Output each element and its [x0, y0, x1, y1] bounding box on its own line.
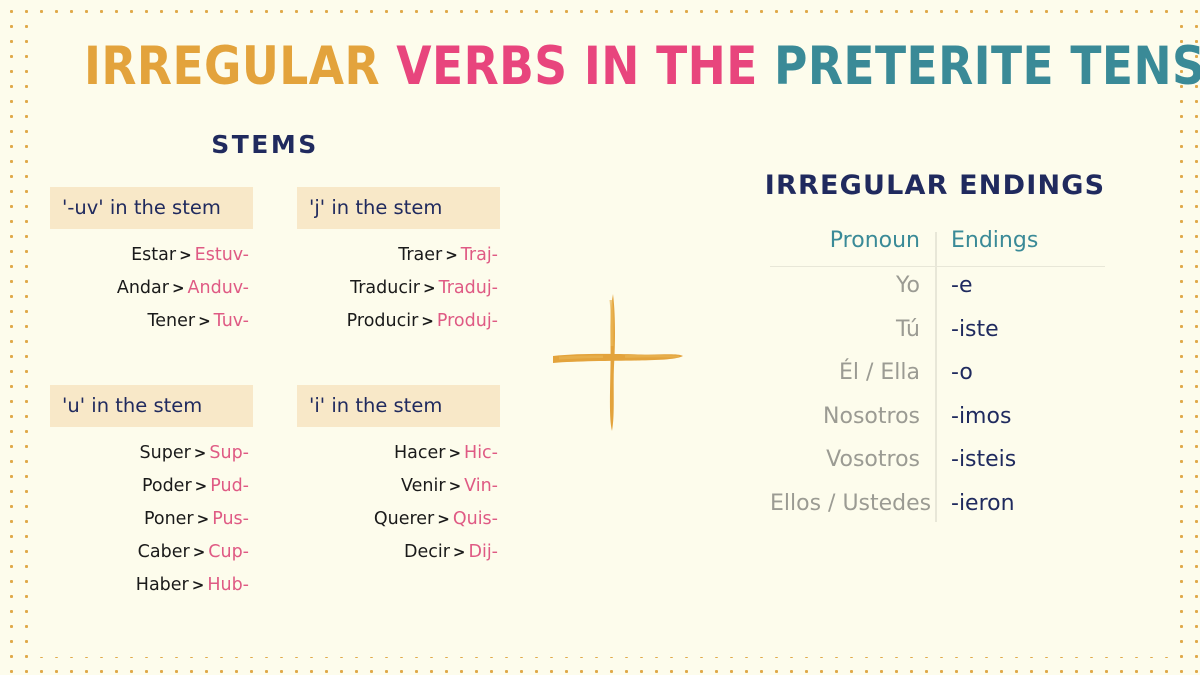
plus-sign-icon — [543, 290, 688, 435]
poster-stage: IRREGULAR VERBS IN THE PRETERITE TENSE S… — [0, 0, 1200, 675]
arrow-icon: > — [421, 312, 434, 330]
infinitive-verb: Decir — [404, 542, 450, 562]
endings-heading: IRREGULAR ENDINGS — [700, 170, 1170, 201]
arrow-icon: > — [198, 312, 211, 330]
preterite-stem: Produj- — [437, 311, 498, 331]
arrow-icon: > — [194, 444, 207, 462]
stem-row: Producir>Produj- — [297, 305, 500, 338]
ending-cell: -o — [936, 360, 1105, 385]
stem-row: Traer>Traj- — [297, 239, 500, 272]
stem-row: Poner>Pus- — [50, 503, 253, 536]
stem-group-i: 'i' in the stem Hacer>Hic- Venir>Vin- Qu… — [297, 385, 500, 569]
table-row: Yo -e — [770, 273, 1105, 317]
table-row: Vosotros -isteis — [770, 447, 1105, 491]
column-header-endings: Endings — [936, 228, 1105, 253]
stem-row: Estar>Estuv- — [50, 239, 253, 272]
header-divider — [770, 266, 1105, 267]
arrow-icon: > — [437, 510, 450, 528]
infinitive-verb: Estar — [131, 245, 176, 265]
preterite-stem: Tuv- — [214, 311, 249, 331]
stem-row: Poder>Pud- — [50, 470, 253, 503]
endings-table: Pronoun Endings Yo -e Tú -iste Él / Ella… — [770, 228, 1105, 534]
stem-row: Traducir>Traduj- — [297, 272, 500, 305]
arrow-icon: > — [195, 477, 208, 495]
ending-cell: -e — [936, 273, 1105, 298]
preterite-stem: Estuv- — [195, 245, 249, 265]
preterite-stem: Traj- — [461, 245, 498, 265]
title-segment-irregular: IRREGULAR — [84, 36, 396, 97]
pronoun-cell: Yo — [770, 273, 936, 298]
preterite-stem: Sup- — [209, 443, 249, 463]
pronoun-cell: Tú — [770, 317, 936, 342]
infinitive-verb: Tener — [148, 311, 196, 331]
stem-row-list: Super>Sup- Poder>Pud- Poner>Pus- Caber>C… — [50, 437, 253, 602]
stem-row: Venir>Vin- — [297, 470, 500, 503]
table-row: Tú -iste — [770, 317, 1105, 361]
table-row: Nosotros -imos — [770, 404, 1105, 448]
stem-row-list: Hacer>Hic- Venir>Vin- Querer>Quis- Decir… — [297, 437, 500, 569]
stem-group-label: 'j' in the stem — [297, 187, 500, 229]
stem-group-label: '-uv' in the stem — [50, 187, 253, 229]
plus-sign-svg — [543, 290, 688, 435]
pronoun-cell: Vosotros — [770, 447, 936, 472]
ending-cell: -iste — [936, 317, 1105, 342]
pronoun-cell: Él / Ella — [770, 360, 936, 385]
stem-group-label: 'i' in the stem — [297, 385, 500, 427]
title-segment-verbs-in-the: VERBS IN THE — [396, 36, 774, 97]
preterite-stem: Hub- — [207, 575, 249, 595]
preterite-stem: Dij- — [468, 542, 498, 562]
arrow-icon: > — [445, 246, 458, 264]
table-header-row: Pronoun Endings — [770, 228, 1105, 266]
arrow-icon: > — [449, 477, 462, 495]
infinitive-verb: Andar — [117, 278, 169, 298]
preterite-stem: Pud- — [210, 476, 249, 496]
ending-cell: -isteis — [936, 447, 1105, 472]
infinitive-verb: Traer — [398, 245, 442, 265]
stem-group-u: 'u' in the stem Super>Sup- Poder>Pud- Po… — [50, 385, 253, 602]
stem-row: Haber>Hub- — [50, 569, 253, 602]
infinitive-verb: Poder — [142, 476, 192, 496]
infinitive-verb: Super — [140, 443, 191, 463]
arrow-icon: > — [192, 576, 205, 594]
stem-row: Super>Sup- — [50, 437, 253, 470]
preterite-stem: Traduj- — [439, 278, 498, 298]
column-divider — [935, 232, 937, 522]
stem-row-list: Estar>Estuv- Andar>Anduv- Tener>Tuv- — [50, 239, 253, 338]
stem-group-j: 'j' in the stem Traer>Traj- Traducir>Tra… — [297, 187, 500, 338]
pronoun-cell: Nosotros — [770, 404, 936, 429]
arrow-icon: > — [423, 279, 436, 297]
ending-cell: -ieron — [936, 491, 1105, 516]
stems-heading: STEMS — [175, 130, 355, 159]
preterite-stem: Anduv- — [188, 278, 249, 298]
infinitive-verb: Producir — [347, 311, 419, 331]
infinitive-verb: Caber — [138, 542, 190, 562]
stem-row-list: Traer>Traj- Traducir>Traduj- Producir>Pr… — [297, 239, 500, 338]
table-row: Él / Ella -o — [770, 360, 1105, 404]
preterite-stem: Hic- — [464, 443, 498, 463]
stem-group-label: 'u' in the stem — [50, 385, 253, 427]
ending-cell: -imos — [936, 404, 1105, 429]
stem-row: Querer>Quis- — [297, 503, 500, 536]
table-row: Ellos / Ustedes -ieron — [770, 491, 1105, 535]
arrow-icon: > — [172, 279, 185, 297]
arrow-icon: > — [197, 510, 210, 528]
infinitive-verb: Querer — [374, 509, 434, 529]
stem-row: Hacer>Hic- — [297, 437, 500, 470]
pronoun-cell: Ellos / Ustedes — [770, 491, 936, 516]
infinitive-verb: Hacer — [394, 443, 445, 463]
arrow-icon: > — [193, 543, 206, 561]
page-title: IRREGULAR VERBS IN THE PRETERITE TENSE — [84, 36, 1116, 97]
arrow-icon: > — [179, 246, 192, 264]
infinitive-verb: Venir — [401, 476, 446, 496]
infinitive-verb: Traducir — [350, 278, 420, 298]
infinitive-verb: Poner — [144, 509, 194, 529]
preterite-stem: Quis- — [453, 509, 498, 529]
infinitive-verb: Haber — [136, 575, 189, 595]
column-header-pronoun: Pronoun — [770, 228, 936, 253]
stem-row: Decir>Dij- — [297, 536, 500, 569]
stem-group-uv: '-uv' in the stem Estar>Estuv- Andar>And… — [50, 187, 253, 338]
arrow-icon: > — [448, 444, 461, 462]
stem-row: Tener>Tuv- — [50, 305, 253, 338]
title-segment-preterite-tense: PRETERITE TENSE — [774, 36, 1200, 97]
preterite-stem: Pus- — [212, 509, 249, 529]
stem-row: Caber>Cup- — [50, 536, 253, 569]
stem-row: Andar>Anduv- — [50, 272, 253, 305]
arrow-icon: > — [453, 543, 466, 561]
preterite-stem: Vin- — [464, 476, 498, 496]
preterite-stem: Cup- — [208, 542, 249, 562]
